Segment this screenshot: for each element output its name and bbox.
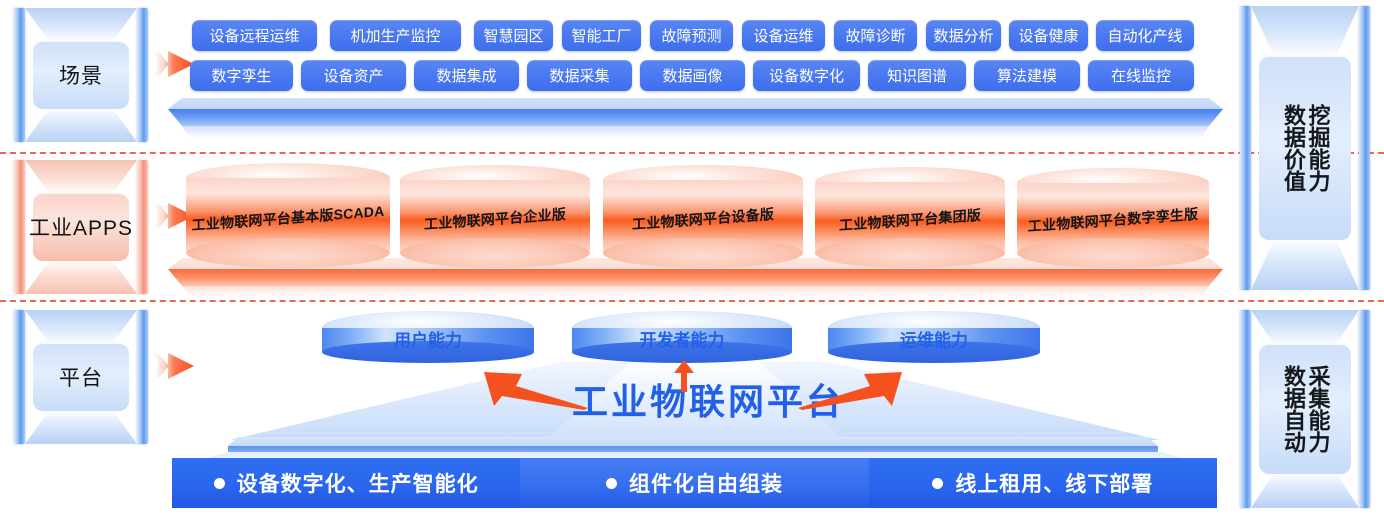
side-panel-pill: 采集能力 数据自动 (1259, 344, 1351, 474)
layer-label-scene: 场景 (14, 8, 148, 142)
bracket-wedge-bottom (1251, 472, 1359, 508)
shelf-shadow (168, 286, 1223, 298)
scene-tag-label: 设备健康 (1018, 25, 1078, 46)
scene-tag[interactable]: 设备健康 (1009, 20, 1088, 51)
feature-item[interactable]: 设备数字化、生产智能化 (172, 458, 520, 508)
bracket-rail-right (137, 8, 148, 142)
plate-top-face (228, 437, 1158, 446)
cylinder-bottom (603, 238, 803, 268)
arrow-right-icon-scene (148, 42, 196, 86)
scene-tag[interactable]: 设备资产 (301, 60, 406, 91)
bracket-wedge-top (25, 8, 137, 42)
scene-tag[interactable]: 设备运维 (742, 20, 825, 51)
scene-tag-label: 知识图谱 (887, 65, 947, 86)
bracket-rail-left (1240, 310, 1251, 508)
feature-label: 设备数字化、生产智能化 (237, 468, 479, 498)
cylinder-bottom (186, 238, 390, 268)
scene-tag-label: 设备数字化 (769, 65, 844, 86)
capability-label: 用户能力 (322, 326, 534, 351)
scene-tag-label: 数据集成 (436, 65, 496, 86)
scene-tag-label: 机加生产监控 (350, 25, 440, 46)
cylinder-bottom (400, 238, 590, 268)
layer-label-pill: 工业APPS (33, 193, 129, 261)
arrow-up-icon (673, 360, 695, 392)
cylinder-bottom (1017, 238, 1209, 268)
capability-cylinder[interactable]: 用户能力 (322, 311, 534, 363)
bracket-rail-right (137, 160, 148, 294)
scene-tag[interactable]: 知识图谱 (868, 60, 966, 91)
scene-tag[interactable]: 智慧园区 (474, 20, 553, 51)
scene-tag-label: 自动化产线 (1107, 25, 1182, 46)
layer-label-pill: 平台 (33, 343, 129, 411)
scene-tag-label: 故障诊断 (845, 25, 905, 46)
arrow-right-icon-platform (148, 344, 196, 388)
scene-tag-label: 智慧园区 (483, 25, 543, 46)
scene-shelf (168, 98, 1223, 138)
side-panel-text-secondary: 数据自动 (1282, 365, 1304, 453)
layer-label-pill: 场景 (33, 41, 129, 109)
feature-label: 线上租用、线下部署 (955, 468, 1153, 498)
feature-item[interactable]: 线上租用、线下部署 (869, 458, 1217, 508)
scene-tag[interactable]: 数据集成 (414, 60, 519, 91)
scene-tag-label: 数据画像 (662, 65, 722, 86)
scene-tag[interactable]: 故障预测 (650, 20, 733, 51)
side-panel-text-secondary: 数据价值 (1282, 104, 1304, 192)
layer-label-text: 场景 (59, 60, 103, 90)
bracket-wedge-bottom (25, 108, 137, 142)
bracket-wedge-top (25, 160, 137, 194)
scene-tag[interactable]: 自动化产线 (1096, 20, 1194, 51)
scene-tag-label: 设备资产 (323, 65, 383, 86)
side-panel-pill: 挖掘能力 数据价值 (1259, 56, 1351, 240)
feature-item[interactable]: 组件化自由组装 (520, 458, 868, 508)
arrow-up-left-icon (480, 370, 590, 410)
feature-label: 组件化自由组装 (629, 468, 783, 498)
section-divider-scene-apps (0, 152, 1384, 154)
app-cylinder[interactable]: 工业物联网平台数字孪生版 (1017, 168, 1209, 268)
scene-tag[interactable]: 在线监控 (1088, 60, 1194, 91)
bullet-dot-icon (214, 478, 225, 489)
layer-label-text: 工业APPS (29, 212, 133, 242)
shelf-shadow (168, 126, 1223, 138)
scene-tag[interactable]: 算法建模 (974, 60, 1080, 91)
scene-tag[interactable]: 数据分析 (926, 20, 1001, 51)
side-panel-text-primary: 挖掘能力 (1306, 104, 1328, 192)
side-panel-data-value-mining: 挖掘能力 数据价值 (1240, 6, 1370, 290)
scene-tag[interactable]: 数字孪生 (190, 60, 293, 91)
bracket-wedge-top (25, 310, 137, 344)
capability-cylinder[interactable]: 运维能力 (828, 311, 1040, 363)
scene-tag[interactable]: 数据画像 (640, 60, 745, 91)
scene-tag[interactable]: 数据采集 (527, 60, 632, 91)
bracket-rail-right (1359, 310, 1370, 508)
scene-tag-label: 在线监控 (1111, 65, 1171, 86)
section-divider-apps-platform (0, 300, 1384, 302)
bracket-wedge-bottom (25, 410, 137, 444)
bracket-wedge-top (1251, 6, 1359, 58)
bracket-rail-left (14, 160, 25, 294)
scene-tag-label: 设备运维 (753, 25, 813, 46)
layer-label-platform: 平台 (14, 310, 148, 444)
side-panel-text-primary: 采集能力 (1306, 365, 1328, 453)
app-cylinder[interactable]: 工业物联网平台企业版 (400, 165, 590, 268)
shelf-front-edge (168, 269, 1223, 286)
bracket-rail-right (1359, 6, 1370, 290)
scene-tag[interactable]: 故障诊断 (834, 20, 917, 51)
shelf-front-edge (168, 109, 1223, 126)
scene-tag[interactable]: 设备数字化 (753, 60, 860, 91)
bracket-rail-right (137, 310, 148, 444)
scene-tag-label: 智能工厂 (571, 25, 631, 46)
scene-tag[interactable]: 智能工厂 (562, 20, 641, 51)
architecture-diagram: 场景 工业APPS 平台 (0, 0, 1384, 514)
scene-tag-label: 故障预测 (661, 25, 721, 46)
bracket-rail-left (14, 8, 25, 142)
bracket-rail-left (1240, 6, 1251, 290)
scene-tag[interactable]: 机加生产监控 (330, 20, 461, 51)
app-cylinder[interactable]: 工业物联网平台集团版 (815, 167, 1005, 268)
capability-label: 开发者能力 (572, 326, 792, 351)
app-cylinder[interactable]: 工业物联网平台基本版SCADA (186, 163, 390, 268)
shelf-top-face (168, 98, 1223, 109)
scene-tag-label: 数字孪生 (211, 65, 271, 86)
scene-tag[interactable]: 设备远程运维 (192, 20, 317, 51)
bracket-wedge-bottom (1251, 238, 1359, 290)
bracket-wedge-bottom (25, 260, 137, 294)
scene-tag-label: 设备远程运维 (209, 25, 299, 46)
cylinder-bottom (815, 238, 1005, 268)
arrow-up-right-icon (796, 370, 906, 410)
platform-feature-bar: 设备数字化、生产智能化 组件化自由组装 线上租用、线下部署 (172, 458, 1217, 508)
app-cylinder[interactable]: 工业物联网平台设备版 (603, 165, 803, 268)
capability-cylinder[interactable]: 开发者能力 (572, 311, 792, 363)
layer-label-text: 平台 (59, 362, 103, 392)
capability-label: 运维能力 (828, 326, 1040, 351)
bracket-wedge-top (1251, 310, 1359, 346)
bracket-rail-left (14, 310, 25, 444)
scene-tag-label: 算法建模 (997, 65, 1057, 86)
bullet-dot-icon (932, 478, 943, 489)
layer-label-apps: 工业APPS (14, 160, 148, 294)
scene-tag-label: 数据采集 (549, 65, 609, 86)
scene-tag-label: 数据分析 (933, 25, 993, 46)
side-panel-data-auto-collection: 采集能力 数据自动 (1240, 310, 1370, 508)
bullet-dot-icon (606, 478, 617, 489)
